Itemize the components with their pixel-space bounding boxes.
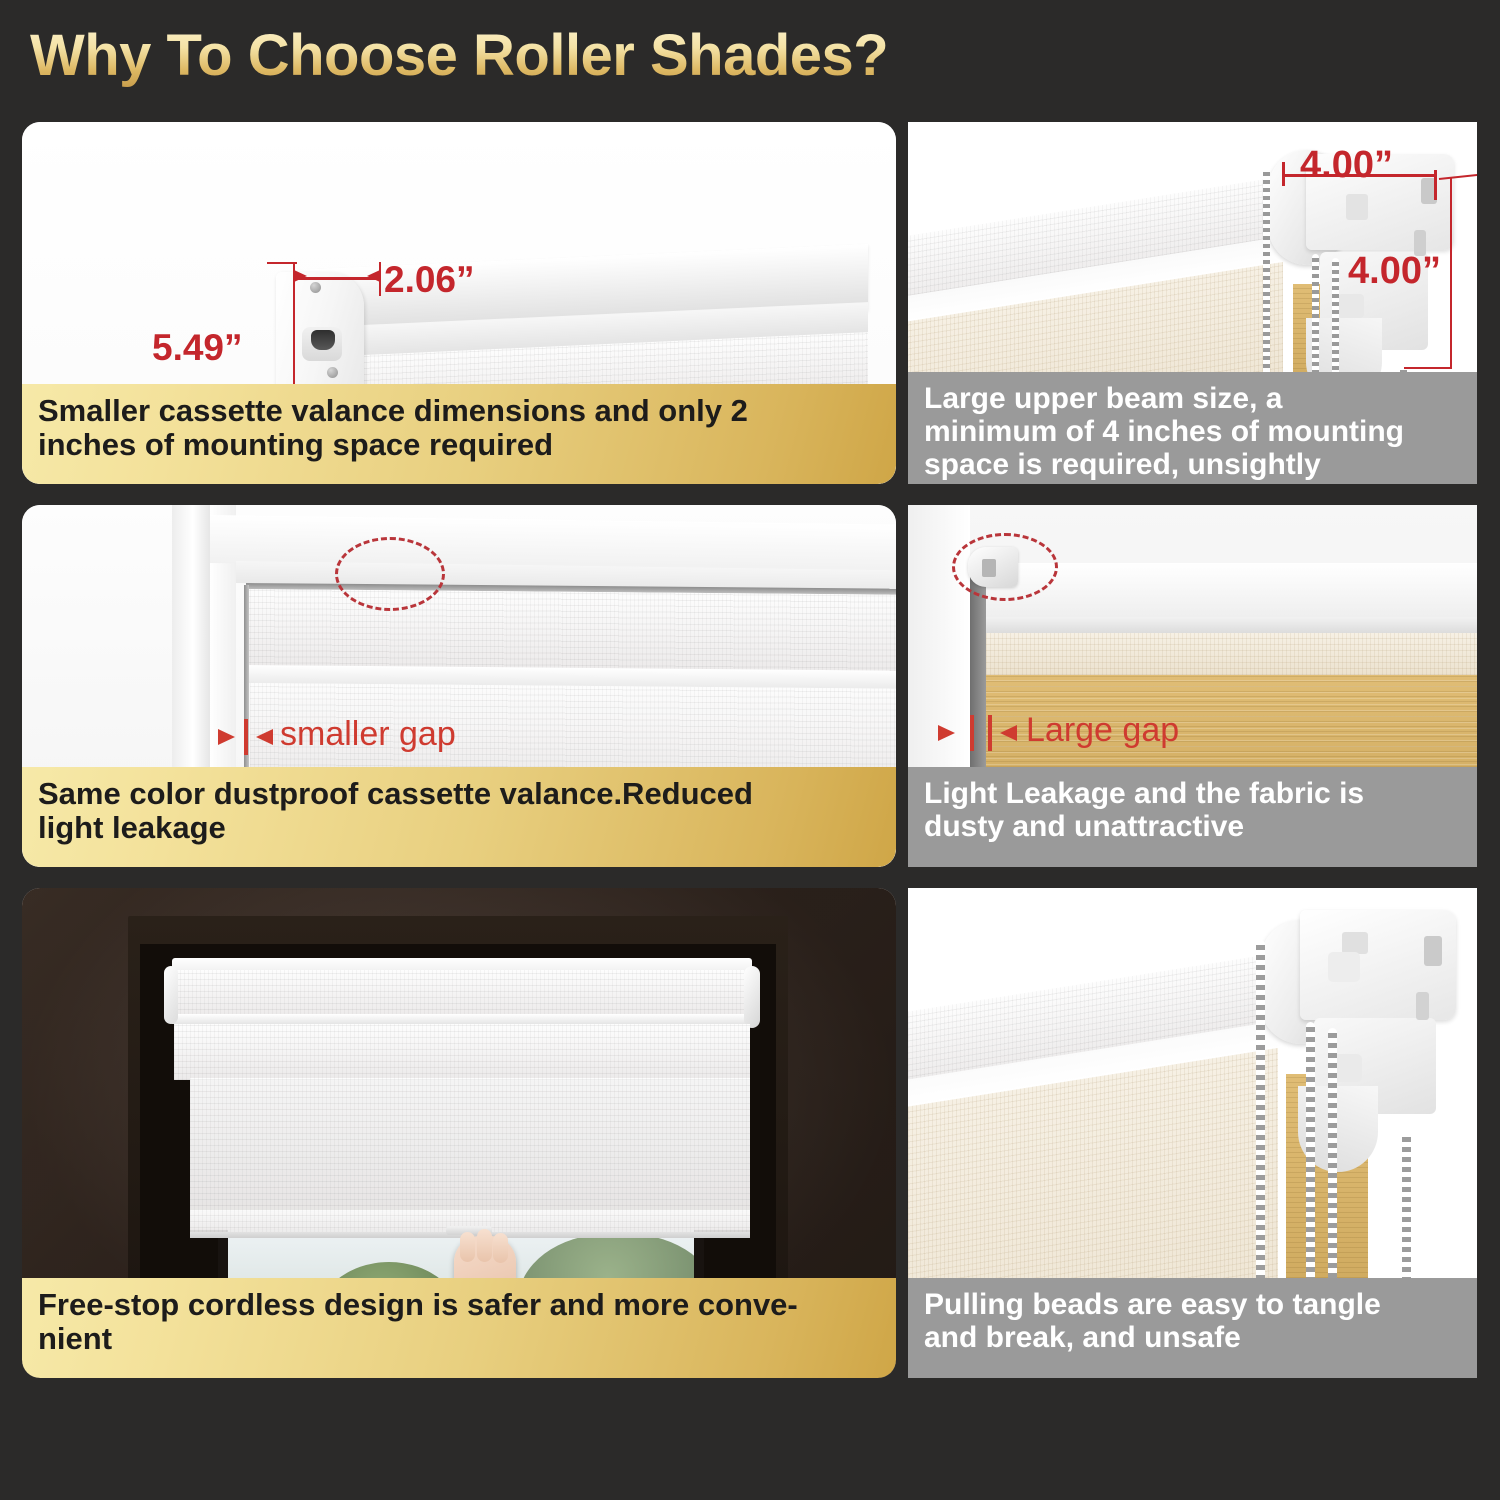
- dimension-label-height: 4.00”: [1348, 250, 1441, 293]
- dimension-label-width: 2.06”: [384, 259, 475, 301]
- caption-line: nient: [38, 1322, 880, 1356]
- dimension-label-width: 4.00”: [1300, 144, 1393, 187]
- gap-arrow-right-icon: [938, 725, 955, 741]
- comparison-grid: 2.06” 5.49” Smaller cassette valance dim…: [0, 0, 1500, 1500]
- gap-arrow-left-icon: [256, 729, 273, 745]
- caption-line: dusty and unattractive: [924, 810, 1461, 843]
- panel-good-cordless-design: Free-stop cordless design is safer and m…: [22, 888, 896, 1378]
- highlight-ellipse: [335, 537, 445, 611]
- gap-label-smaller: smaller gap: [280, 715, 456, 754]
- caption-good-cassette-dimensions: Smaller cassette valance dimensions and …: [22, 384, 896, 484]
- caption-line: Free-stop cordless design is safer and m…: [38, 1288, 880, 1322]
- panel-good-dustproof-valance: smaller gap Same color dustproof cassett…: [22, 505, 896, 867]
- caption-bad-light-leakage: Light Leakage and the fabric is dusty an…: [908, 767, 1477, 867]
- panel-bad-light-leakage: Large gap Light Leakage and the fabric i…: [908, 505, 1477, 867]
- highlight-ellipse: [952, 533, 1058, 601]
- caption-line: Same color dustproof cassette valance.Re…: [38, 777, 880, 811]
- panel-bad-pulling-beads: Pulling beads are easy to tangle and bre…: [908, 888, 1477, 1378]
- caption-line: space is required, unsightly: [924, 448, 1461, 481]
- caption-line: light leakage: [38, 811, 880, 845]
- caption-line: Pulling beads are easy to tangle: [924, 1288, 1461, 1321]
- caption-good-dustproof-valance: Same color dustproof cassette valance.Re…: [22, 767, 896, 867]
- gap-arrow-left-icon: [1000, 725, 1017, 741]
- caption-line: Light Leakage and the fabric is: [924, 777, 1461, 810]
- panel-bad-large-upper-beam: 4.00” 4.00” Large upper beam size, a min…: [908, 122, 1477, 484]
- caption-line: Smaller cassette valance dimensions and …: [38, 394, 880, 428]
- dimension-label-height: 5.49”: [152, 327, 243, 369]
- caption-line: and break, and unsafe: [924, 1321, 1461, 1354]
- caption-bad-pulling-beads: Pulling beads are easy to tangle and bre…: [908, 1278, 1477, 1378]
- caption-bad-large-upper-beam: Large upper beam size, a minimum of 4 in…: [908, 372, 1477, 484]
- caption-line: Large upper beam size, a: [924, 382, 1461, 415]
- panel-good-cassette-dimensions: 2.06” 5.49” Smaller cassette valance dim…: [22, 122, 896, 484]
- gap-label-large: Large gap: [1026, 711, 1179, 750]
- caption-good-cordless-design: Free-stop cordless design is safer and m…: [22, 1278, 896, 1378]
- caption-line: inches of mounting space required: [38, 428, 880, 462]
- gap-arrow-right-icon: [218, 729, 235, 745]
- caption-line: minimum of 4 inches of mounting: [924, 415, 1461, 448]
